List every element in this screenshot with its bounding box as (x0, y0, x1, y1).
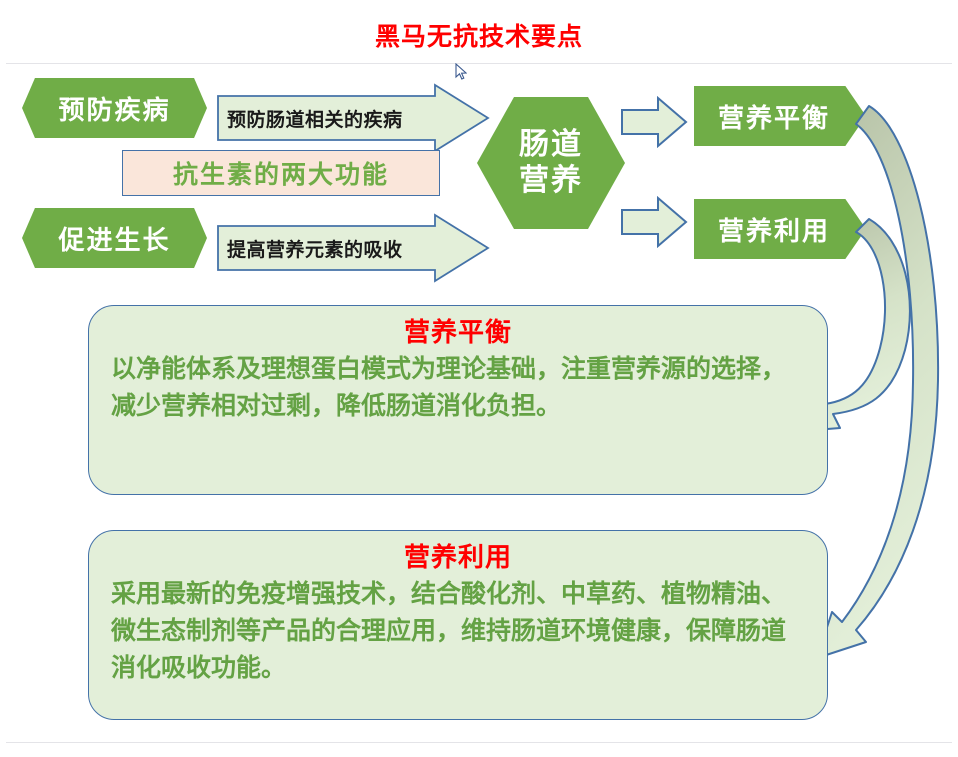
slide-canvas: 黑马无抗技术要点 预防疾病 促进生长 预防肠道相关的疾病 提高营养元素的吸收 抗… (0, 0, 958, 757)
divider-bottom (6, 742, 952, 743)
left-tag-prevent-disease[interactable]: 预防疾病 (22, 78, 207, 138)
page-title: 黑马无抗技术要点 (0, 22, 958, 52)
curved-arrow-balance-to-lower-box (817, 106, 938, 658)
divider-top (6, 63, 952, 64)
left-tag-label: 预防疾病 (58, 90, 170, 127)
center-hex-text: 肠道 营养 (519, 127, 583, 199)
right-tag-label: 营养利用 (718, 211, 830, 248)
antibiotic-two-functions-box[interactable]: 抗生素的两大功能 (122, 150, 440, 196)
detail-box-body: 采用最新的免疫增强技术，结合酸化剂、中草药、植物精油、微生态制剂等产品的合理应用… (111, 575, 805, 686)
arrow-label-text: 提高营养元素的吸收 (227, 214, 403, 282)
mouse-cursor-icon (455, 63, 467, 81)
mini-arrow-to-balance-icon (620, 96, 688, 148)
arrow-label-prevent-intestinal-disease[interactable]: 预防肠道相关的疾病 (217, 84, 489, 152)
right-tag-nutrition-utilization[interactable]: 营养利用 (694, 199, 866, 259)
mini-arrow-to-utilization-icon (620, 196, 688, 248)
center-hex-intestinal-nutrition[interactable]: 肠道 营养 (477, 97, 625, 229)
center-hex-line1: 肠道 (519, 127, 583, 163)
center-hex-line2: 营养 (519, 163, 583, 199)
left-tag-promote-growth[interactable]: 促进生长 (22, 208, 207, 268)
detail-box-body: 以净能体系及理想蛋白模式为理论基础，注重营养源的选择，减少营养相对过剩，降低肠道… (111, 350, 805, 424)
right-tag-nutrition-balance[interactable]: 营养平衡 (694, 86, 866, 146)
right-tag-label: 营养平衡 (718, 98, 830, 135)
detail-box-nutrition-balance[interactable]: 营养平衡 以净能体系及理想蛋白模式为理论基础，注重营养源的选择，减少营养相对过剩… (88, 305, 828, 495)
left-tag-label: 促进生长 (58, 220, 170, 257)
detail-box-nutrition-utilization[interactable]: 营养利用 采用最新的免疫增强技术，结合酸化剂、中草药、植物精油、微生态制剂等产品… (88, 530, 828, 720)
detail-box-heading: 营养平衡 (111, 316, 805, 350)
arrow-label-text: 预防肠道相关的疾病 (227, 84, 403, 152)
antibiotic-two-functions-label: 抗生素的两大功能 (173, 155, 389, 191)
arrow-label-improve-nutrient-absorption[interactable]: 提高营养元素的吸收 (217, 214, 489, 282)
detail-box-heading: 营养利用 (111, 541, 805, 575)
